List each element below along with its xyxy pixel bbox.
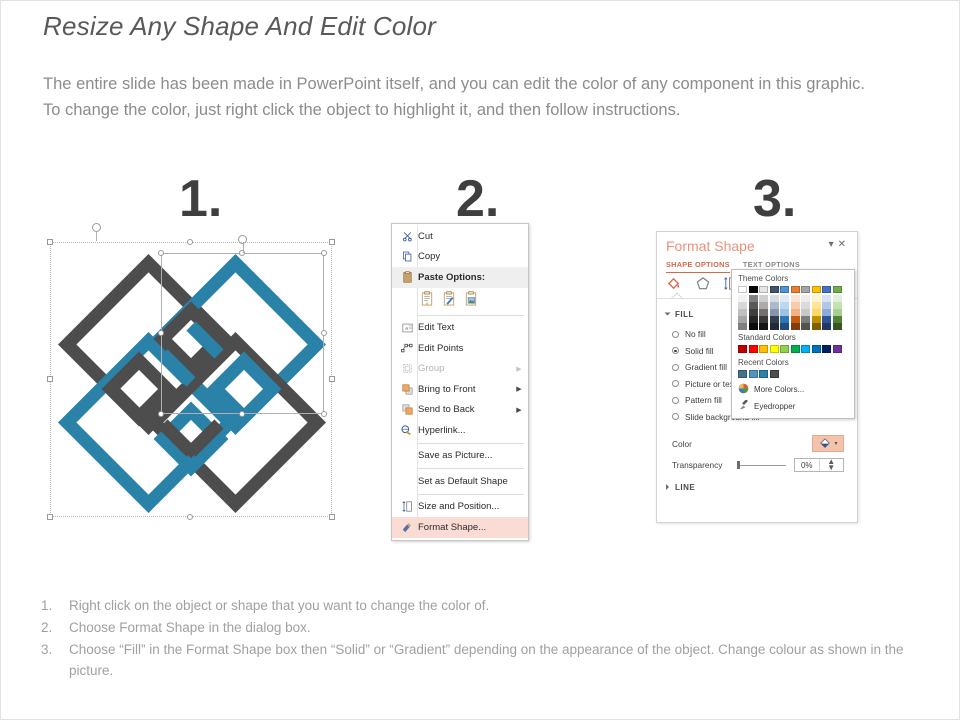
menu-item-cut[interactable]: Cut — [392, 226, 528, 247]
theme-colors-header: Theme Colors — [732, 272, 854, 285]
color-row[interactable]: Color ▾ — [672, 435, 844, 452]
menu-label-copy: Copy — [418, 251, 524, 262]
fill-section-toggle-icon[interactable] — [665, 313, 671, 316]
selection-frame-inner[interactable] — [161, 253, 324, 414]
theme-shade-swatch[interactable] — [812, 302, 821, 309]
fill-bucket-icon[interactable] — [666, 276, 683, 293]
fill-section-header[interactable]: FILL — [675, 310, 694, 319]
inner-handle-n[interactable] — [239, 250, 245, 256]
theme-shade-swatch[interactable] — [738, 309, 747, 316]
standard-color-swatch[interactable] — [833, 345, 842, 353]
menu-separator-2 — [418, 443, 524, 444]
theme-shade-swatch[interactable] — [770, 309, 779, 316]
standard-color-swatch[interactable] — [822, 345, 831, 353]
theme-shade-swatch[interactable] — [812, 309, 821, 316]
step-number-3: 3. — [753, 173, 796, 225]
inner-handle-nw[interactable] — [158, 250, 164, 256]
more-colors-icon — [738, 383, 749, 396]
instruction-row-2: 2. Choose Format Shape in the dialog box… — [41, 617, 931, 638]
theme-shade-swatch[interactable] — [812, 323, 821, 330]
radio-dot-picture-fill[interactable] — [672, 380, 679, 387]
theme-shade-swatch[interactable] — [833, 309, 842, 316]
menu-item-bring-to-front[interactable]: Bring to Front ▶ — [392, 379, 528, 400]
format-shape-toolbar[interactable] — [666, 276, 738, 293]
theme-shade-swatch[interactable] — [759, 302, 768, 309]
theme-shade-swatch[interactable] — [759, 323, 768, 330]
menu-label-bring-to-front: Bring to Front — [418, 384, 514, 395]
standard-color-swatch[interactable] — [759, 345, 768, 353]
rotate-handle-inner[interactable] — [238, 235, 247, 244]
theme-shade-swatch[interactable] — [833, 323, 842, 330]
menu-item-paste-options[interactable]: Paste Options: — [392, 267, 528, 288]
theme-shade-swatch[interactable] — [833, 295, 842, 302]
more-colors-item[interactable]: More Colors... — [732, 381, 854, 398]
fill-color-icon — [818, 438, 832, 450]
theme-shade-swatch[interactable] — [791, 323, 800, 330]
menu-label-save-as-picture: Save as Picture... — [418, 450, 524, 461]
hyperlink-icon — [396, 425, 418, 436]
radio-label-no-fill: No fill — [685, 329, 706, 339]
edit-text-icon: A — [396, 323, 418, 333]
menu-item-copy[interactable]: Copy — [392, 247, 528, 268]
send-to-back-icon — [396, 404, 418, 415]
theme-shade-swatch[interactable] — [780, 295, 789, 302]
theme-shade-swatch[interactable] — [780, 309, 789, 316]
theme-shade-swatch[interactable] — [759, 309, 768, 316]
eyedropper-icon — [738, 400, 749, 413]
theme-color-column[interactable] — [801, 286, 810, 330]
menu-item-hyperlink[interactable]: Hyperlink... — [392, 420, 528, 441]
menu-item-set-as-default-shape[interactable]: Set as Default Shape — [392, 471, 528, 492]
menu-separator-1 — [418, 315, 524, 316]
theme-shade-swatch[interactable] — [759, 316, 768, 323]
radio-dot-pattern-fill[interactable] — [672, 397, 679, 404]
resize-handle-n[interactable] — [187, 239, 193, 245]
theme-color-swatch[interactable] — [791, 286, 800, 293]
size-position-icon — [396, 501, 418, 512]
radio-label-pattern-fill: Pattern fill — [685, 395, 722, 405]
theme-shade-swatch[interactable] — [759, 295, 768, 302]
transparency-slider[interactable] — [734, 460, 788, 470]
svg-text:a: a — [426, 301, 429, 306]
resize-handle-ne[interactable] — [329, 239, 335, 245]
pane-window-controls[interactable]: ▾✕ — [829, 239, 850, 250]
theme-color-column[interactable] — [738, 286, 747, 330]
inner-handle-se[interactable] — [321, 411, 327, 417]
pentagon-effects-icon[interactable] — [695, 276, 711, 293]
theme-color-swatch[interactable] — [770, 286, 779, 293]
theme-shade-swatch[interactable] — [833, 316, 842, 323]
chevron-down-icon[interactable]: ▾ — [834, 440, 837, 447]
theme-color-swatch[interactable] — [759, 286, 768, 293]
diamond-graphic-panel[interactable] — [41, 229, 341, 529]
rotate-stem-outer — [96, 232, 97, 241]
group-icon — [396, 363, 418, 374]
theme-color-column[interactable] — [770, 286, 779, 330]
edit-points-icon — [396, 343, 418, 354]
chevron-down-icon[interactable]: ▾ — [829, 239, 838, 250]
menu-item-send-to-back[interactable]: Send to Back ▶ — [392, 400, 528, 421]
theme-shade-swatch[interactable] — [822, 295, 831, 302]
theme-shade-swatch[interactable] — [780, 316, 789, 323]
standard-color-swatch[interactable] — [749, 345, 758, 353]
theme-shade-swatch[interactable] — [780, 302, 789, 309]
theme-shade-swatch[interactable] — [801, 316, 810, 323]
recent-color-swatch[interactable] — [759, 370, 768, 378]
theme-shade-swatch[interactable] — [791, 316, 800, 323]
inner-handle-s[interactable] — [239, 411, 245, 417]
line-section-header[interactable]: LINE — [675, 483, 695, 492]
scissors-icon — [396, 231, 418, 242]
theme-shade-swatch[interactable] — [822, 309, 831, 316]
copy-icon — [396, 251, 418, 262]
rotate-handle-outer[interactable] — [92, 223, 101, 232]
instruction-number-1: 1. — [41, 595, 69, 616]
menu-separator-4 — [418, 494, 524, 495]
inner-handle-w[interactable] — [158, 330, 164, 336]
bring-to-front-icon — [396, 384, 418, 395]
format-shape-title: Format Shape — [666, 238, 755, 254]
menu-item-group[interactable]: Group ▶ — [392, 359, 528, 380]
standard-colors-header: Standard Colors — [732, 331, 854, 344]
theme-shade-swatch[interactable] — [822, 323, 831, 330]
menu-item-save-as-picture[interactable]: Save as Picture... — [392, 446, 528, 467]
theme-shade-swatch[interactable] — [812, 295, 821, 302]
more-colors-label: More Colors... — [754, 385, 804, 394]
standard-colors-row[interactable] — [732, 344, 854, 356]
menu-item-edit-text[interactable]: A Edit Text — [392, 318, 528, 339]
theme-shade-swatch[interactable] — [791, 302, 800, 309]
theme-shade-swatch[interactable] — [791, 309, 800, 316]
close-icon[interactable]: ✕ — [838, 239, 850, 250]
theme-color-column[interactable] — [791, 286, 800, 330]
resize-handle-s[interactable] — [187, 514, 193, 520]
theme-color-swatch[interactable] — [780, 286, 789, 293]
resize-handle-w[interactable] — [47, 376, 53, 382]
theme-shade-swatch[interactable] — [770, 323, 779, 330]
theme-color-swatch[interactable] — [749, 286, 758, 293]
instructions-list: 1. Right click on the object or shape th… — [41, 595, 931, 682]
step-number-2: 2. — [456, 173, 499, 225]
menu-label-hyperlink: Hyperlink... — [418, 425, 524, 436]
spinner-down-icon[interactable]: ▼ — [827, 465, 835, 471]
theme-shade-swatch[interactable] — [801, 302, 810, 309]
radio-dot-solid-fill[interactable] — [672, 347, 679, 354]
theme-color-swatch[interactable] — [812, 286, 821, 293]
resize-handle-se[interactable] — [329, 514, 335, 520]
recent-color-swatch[interactable] — [749, 370, 758, 378]
theme-shade-swatch[interactable] — [738, 323, 747, 330]
theme-shade-swatch[interactable] — [749, 323, 758, 330]
paste-picture-icon[interactable] — [464, 291, 478, 309]
theme-color-column[interactable] — [749, 286, 758, 330]
theme-color-column[interactable] — [822, 286, 831, 330]
theme-shade-swatch[interactable] — [749, 316, 758, 323]
theme-shade-swatch[interactable] — [738, 316, 747, 323]
radio-dot-gradient-fill[interactable] — [672, 364, 679, 371]
theme-color-column[interactable] — [759, 286, 768, 330]
resize-handle-nw[interactable] — [47, 239, 53, 245]
format-shape-icon — [396, 522, 418, 533]
instruction-text-2: Choose Format Shape in the dialog box. — [69, 617, 931, 638]
line-section-toggle-icon[interactable] — [666, 484, 669, 490]
tab-shape-options[interactable]: SHAPE OPTIONS — [666, 260, 730, 273]
menu-label-group: Group — [418, 363, 514, 374]
step-number-1: 1. — [179, 173, 222, 225]
menu-label-paste-options: Paste Options: — [418, 272, 524, 283]
inner-handle-sw[interactable] — [158, 411, 164, 417]
slider-track — [740, 465, 786, 466]
menu-label-set-as-default-shape: Set as Default Shape — [418, 476, 524, 487]
rotate-stem-inner — [243, 244, 244, 253]
submenu-arrow-group: ▶ — [514, 365, 524, 373]
radio-dot-no-fill[interactable] — [672, 331, 679, 338]
paste-keep-formatting-icon[interactable]: a — [420, 291, 434, 309]
theme-shade-swatch[interactable] — [770, 302, 779, 309]
resize-handle-sw[interactable] — [47, 514, 53, 520]
instruction-row-1: 1. Right click on the object or shape th… — [41, 595, 931, 616]
transparency-spinner[interactable]: 0% ▲ ▼ — [794, 458, 844, 472]
theme-color-swatch[interactable] — [801, 286, 810, 293]
menu-item-format-shape[interactable]: Format Shape... — [392, 517, 528, 538]
menu-label-size-and-position: Size and Position... — [418, 501, 524, 512]
standard-color-swatch[interactable] — [738, 345, 747, 353]
instruction-number-3: 3. — [41, 639, 69, 681]
theme-shade-swatch[interactable] — [812, 316, 821, 323]
instruction-text-3: Choose “Fill” in the Format Shape box th… — [69, 639, 931, 681]
menu-label-edit-text: Edit Text — [418, 322, 524, 333]
theme-shade-swatch[interactable] — [738, 295, 747, 302]
standard-color-swatch[interactable] — [770, 345, 779, 353]
theme-shade-swatch[interactable] — [822, 302, 831, 309]
standard-color-swatch[interactable] — [780, 345, 789, 353]
theme-shade-swatch[interactable] — [749, 295, 758, 302]
theme-color-column[interactable] — [833, 286, 842, 330]
standard-color-swatch[interactable] — [791, 345, 800, 353]
inner-handle-ne[interactable] — [321, 250, 327, 256]
menu-item-size-and-position[interactable]: Size and Position... — [392, 497, 528, 518]
transparency-value[interactable]: 0% — [795, 461, 819, 470]
standard-color-swatch[interactable] — [801, 345, 810, 353]
slide-canvas: Resize Any Shape And Edit Color The enti… — [0, 0, 960, 720]
theme-shade-swatch[interactable] — [770, 316, 779, 323]
menu-label-edit-points: Edit Points — [418, 343, 524, 354]
paste-options-icons[interactable]: a — [392, 288, 528, 313]
submenu-arrow-bring-to-front: ▶ — [514, 385, 524, 393]
recent-color-swatch[interactable] — [770, 370, 779, 378]
inner-handle-e[interactable] — [321, 330, 327, 336]
color-picker-dropdown[interactable]: Theme Colors Standard Colors Recent Colo… — [731, 269, 855, 419]
instruction-row-3: 3. Choose “Fill” in the Format Shape box… — [41, 639, 931, 681]
radio-label-gradient-fill: Gradient fill — [685, 362, 727, 372]
theme-shade-swatch[interactable] — [801, 323, 810, 330]
theme-color-column[interactable] — [812, 286, 821, 330]
theme-shade-swatch[interactable] — [749, 302, 758, 309]
instruction-number-2: 2. — [41, 617, 69, 638]
theme-shade-swatch[interactable] — [822, 316, 831, 323]
recent-colors-row[interactable] — [732, 369, 854, 381]
instruction-text-1: Right click on the object or shape that … — [69, 595, 931, 616]
menu-label-format-shape: Format Shape... — [418, 522, 524, 533]
theme-colors-grid[interactable] — [732, 285, 854, 331]
theme-color-column[interactable] — [780, 286, 789, 330]
theme-shade-swatch[interactable] — [801, 295, 810, 302]
eyedropper-item[interactable]: Eyedropper — [732, 398, 854, 415]
transparency-row[interactable]: Transparency 0% ▲ ▼ — [672, 458, 844, 472]
theme-shade-swatch[interactable] — [833, 302, 842, 309]
theme-shade-swatch[interactable] — [791, 295, 800, 302]
intro-paragraph: The entire slide has been made in PowerP… — [43, 71, 865, 123]
resize-handle-e[interactable] — [329, 376, 335, 382]
active-tool-caret — [671, 292, 683, 299]
radio-label-solid-fill: Solid fill — [685, 346, 714, 356]
eyedropper-label: Eyedropper — [754, 402, 795, 411]
fill-color-button[interactable]: ▾ — [812, 435, 844, 452]
page-title: Resize Any Shape And Edit Color — [43, 11, 436, 42]
menu-separator-3 — [418, 468, 524, 469]
recent-color-swatch[interactable] — [738, 370, 747, 378]
theme-shade-swatch[interactable] — [801, 309, 810, 316]
theme-color-swatch[interactable] — [833, 286, 842, 293]
recent-colors-header: Recent Colors — [732, 356, 854, 369]
radio-dot-slide-background-fill[interactable] — [672, 413, 679, 420]
clipboard-icon — [396, 271, 418, 283]
slider-knob[interactable] — [737, 461, 740, 469]
spinner-arrows[interactable]: ▲ ▼ — [819, 459, 844, 471]
theme-shade-swatch[interactable] — [770, 295, 779, 302]
menu-item-edit-points[interactable]: Edit Points — [392, 338, 528, 359]
submenu-arrow-send-to-back: ▶ — [514, 406, 524, 414]
theme-shade-swatch[interactable] — [780, 323, 789, 330]
theme-color-swatch[interactable] — [822, 286, 831, 293]
menu-label-cut: Cut — [418, 231, 524, 242]
color-label: Color — [672, 439, 734, 449]
paste-merge-icon[interactable] — [442, 291, 456, 309]
theme-color-swatch[interactable] — [738, 286, 747, 293]
standard-color-swatch[interactable] — [812, 345, 821, 353]
transparency-label: Transparency — [672, 460, 734, 470]
menu-label-send-to-back: Send to Back — [418, 404, 514, 415]
theme-shade-swatch[interactable] — [738, 302, 747, 309]
context-menu[interactable]: Cut Copy Paste Options: a — [391, 223, 529, 541]
theme-shade-swatch[interactable] — [749, 309, 758, 316]
